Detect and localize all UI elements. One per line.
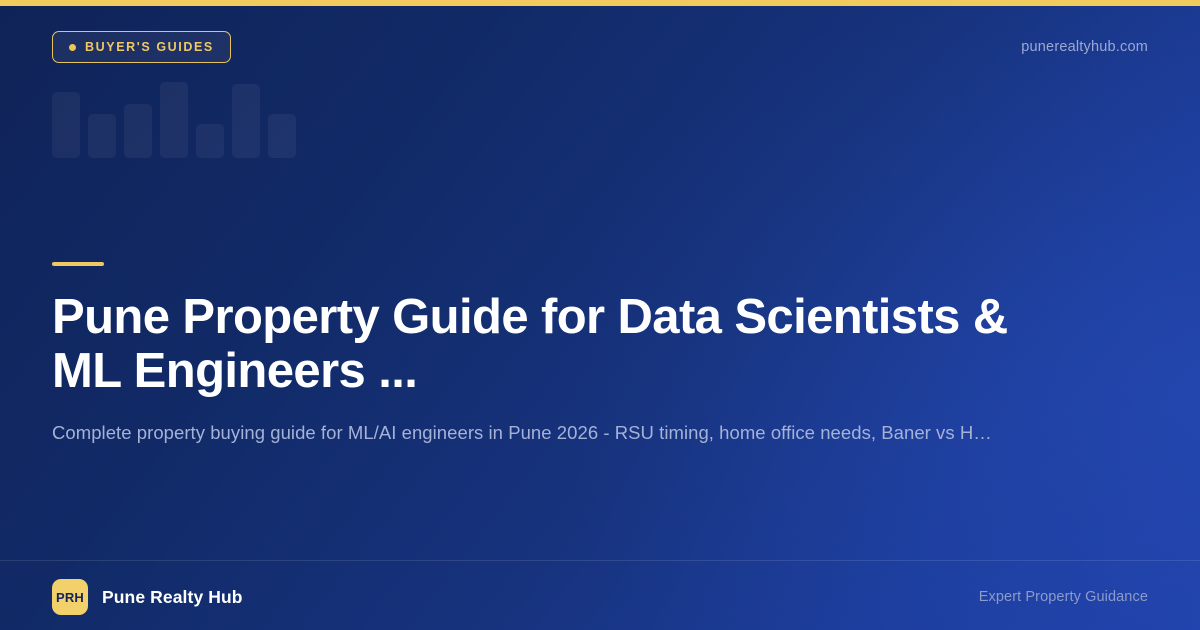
- chart-bar: [88, 114, 116, 158]
- chart-bar: [232, 84, 260, 158]
- page-title: Pune Property Guide for Data Scientists …: [52, 290, 1072, 398]
- chart-bar: [196, 124, 224, 158]
- category-badge-label: BUYER'S GUIDES: [85, 40, 214, 54]
- og-share-card: BUYER'S GUIDES punerealtyhub.com Pune Pr…: [0, 0, 1200, 630]
- brand-name: Pune Realty Hub: [102, 587, 243, 608]
- chart-bar: [52, 92, 80, 158]
- card-header: BUYER'S GUIDES punerealtyhub.com: [52, 31, 1148, 63]
- title-accent-rule: [52, 262, 104, 266]
- decorative-bar-chart: [52, 82, 312, 158]
- brand-logo-icon: PRH: [52, 579, 88, 615]
- chart-bar: [124, 104, 152, 158]
- chart-bar: [268, 114, 296, 158]
- card-main-content: Pune Property Guide for Data Scientists …: [52, 262, 1112, 446]
- page-subtitle: Complete property buying guide for ML/AI…: [52, 420, 1087, 446]
- footer-tagline: Expert Property Guidance: [979, 589, 1148, 605]
- chart-bar: [160, 82, 188, 158]
- top-accent-bar: [0, 0, 1200, 6]
- bullet-dot-icon: [69, 44, 76, 51]
- category-badge[interactable]: BUYER'S GUIDES: [52, 31, 231, 63]
- brand-lockup[interactable]: PRH Pune Realty Hub: [52, 579, 243, 615]
- footer-divider: [0, 560, 1200, 561]
- card-footer: PRH Pune Realty Hub Expert Property Guid…: [52, 578, 1148, 616]
- site-domain: punerealtyhub.com: [1021, 39, 1148, 55]
